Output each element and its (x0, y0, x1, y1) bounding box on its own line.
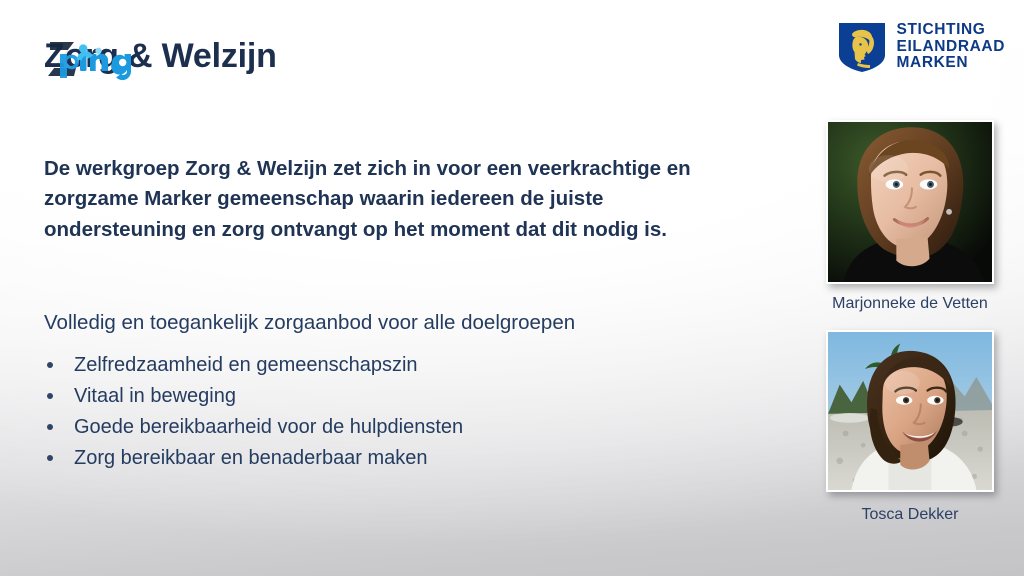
bullet-dot-icon (47, 393, 53, 399)
subheading: Volledig en toegankelijk zorgaanbod voor… (44, 309, 744, 337)
slide-canvas: Zorg & Welzijn (0, 0, 1024, 576)
bullet-dot-icon (47, 455, 53, 461)
bullet-dot-icon (47, 424, 53, 430)
people-photo-column: Marjonneke de Vetten (810, 120, 1010, 526)
brand-line-2: EILANDRAAD (897, 39, 1005, 56)
brand-text: STICHTING EILANDRAAD MARKEN (897, 22, 1005, 72)
title-block: Zorg & Welzijn (44, 34, 277, 84)
list-item: Vitaal in beweging (44, 381, 684, 412)
brand-logo: STICHTING EILANDRAAD MARKEN (837, 21, 1005, 73)
list-item-label: Zorg bereikbaar en benaderbaar maken (74, 447, 428, 469)
list-item-label: Vitaal in beweging (74, 385, 236, 407)
eilandraad-shield-icon (837, 21, 887, 73)
list-item: Goede bereikbaarheid voor de hulpdienste… (44, 412, 684, 443)
brand-line-1: STICHTING (897, 22, 1005, 39)
person-caption: Marjonneke de Vetten (810, 293, 1010, 315)
portrait-photo-tosca (828, 332, 992, 490)
photo-frame (826, 330, 994, 492)
portrait-photo-marjonneke (828, 122, 992, 282)
bullet-dot-icon (47, 362, 53, 368)
page-title: Zorg & Welzijn (44, 34, 277, 78)
list-item-label: Zelfredzaamheid en gemeenschapszin (74, 354, 418, 376)
person-caption: Tosca Dekker (810, 504, 1010, 526)
brand-line-3: MARKEN (897, 55, 1005, 72)
photo-frame (826, 120, 994, 284)
bullet-list: Zelfredzaamheid en gemeenschapszin Vitaa… (44, 350, 684, 474)
list-item: Zorg bereikbaar en benaderbaar maken (44, 443, 684, 474)
person-card-marjonneke: Marjonneke de Vetten (810, 120, 1010, 315)
intro-paragraph: De werkgroep Zorg & Welzijn zet zich in … (44, 154, 744, 246)
person-card-tosca: Tosca Dekker (810, 330, 1010, 526)
list-item-label: Goede bereikbaarheid voor de hulpdienste… (74, 416, 463, 438)
list-item: Zelfredzaamheid en gemeenschapszin (44, 350, 684, 381)
